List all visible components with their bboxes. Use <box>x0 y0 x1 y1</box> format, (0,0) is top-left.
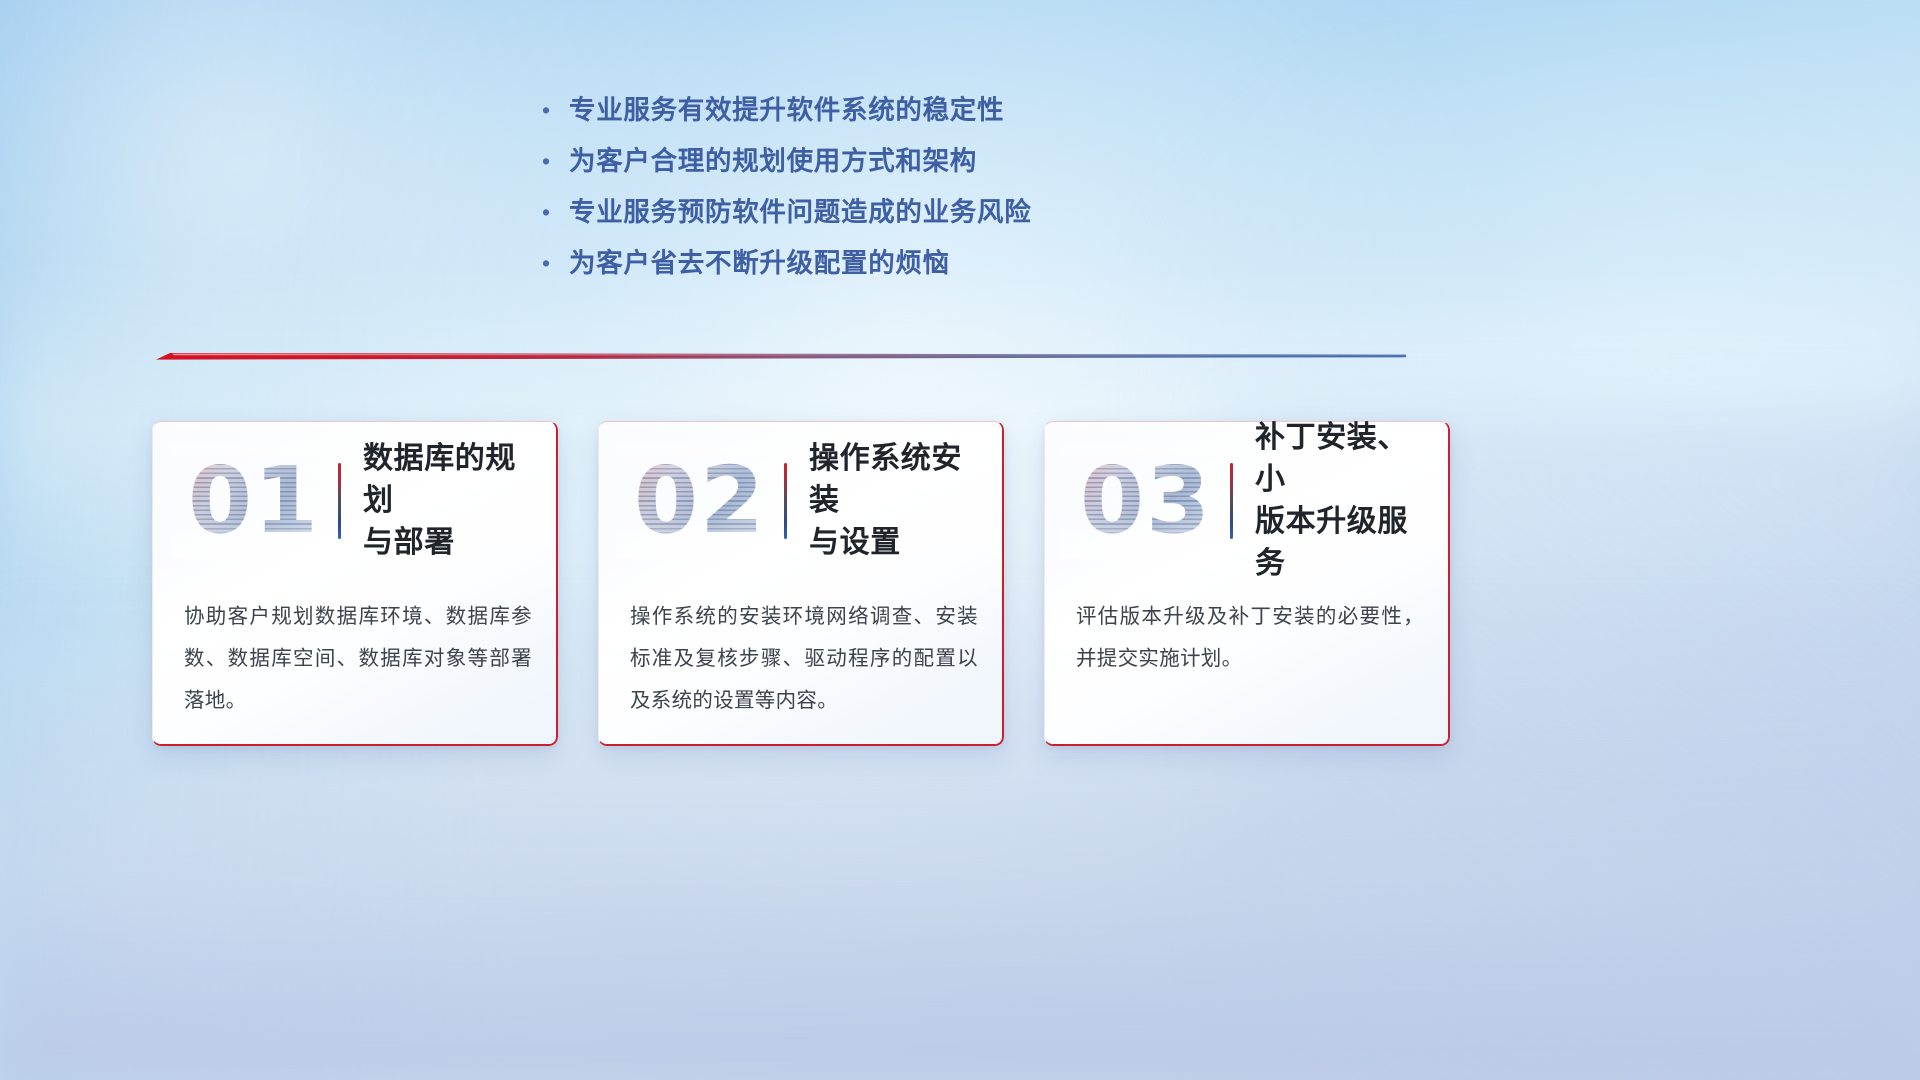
card-description: 操作系统的安装环境网络调查、安装标准及复核步骤、驱动程序的配置以及系统的设置等内… <box>630 596 978 722</box>
bullet-dot-icon: • <box>535 90 569 130</box>
bullet-dot-icon: • <box>535 243 569 283</box>
card-title-line-2: 版本升级服务 <box>1255 501 1436 585</box>
bullet-item-3: • 专业服务预防软件问题造成的业务风险 <box>535 192 1135 243</box>
card-title-line-1: 操作系统安装 <box>809 438 990 522</box>
card-header: 01 数据库的规划 与部署 <box>152 421 558 581</box>
bullet-item-4: • 为客户省去不断升级配置的烦恼 <box>535 243 1135 294</box>
card-title: 补丁安装、小 版本升级服务 <box>1255 421 1450 585</box>
card-accent-bar <box>1230 463 1233 539</box>
card-title-line-2: 与部署 <box>363 522 544 564</box>
bullet-item-label: 为客户合理的规划使用方式和架构 <box>569 141 977 181</box>
bullet-dot-icon: • <box>535 192 569 232</box>
card-title-line-1: 补丁安装、小 <box>1255 421 1436 501</box>
bullet-item-label: 专业服务有效提升软件系统的稳定性 <box>569 90 1004 130</box>
card-title-line-2: 与设置 <box>809 522 990 564</box>
card-description: 协助客户规划数据库环境、数据库参数、数据库空间、数据库对象等部署落地。 <box>184 596 532 722</box>
benefits-bullet-list: • 专业服务有效提升软件系统的稳定性 • 为客户合理的规划使用方式和架构 • 专… <box>535 90 1135 294</box>
bullet-item-2: • 为客户合理的规划使用方式和架构 <box>535 141 1135 192</box>
card-title: 操作系统安装 与设置 <box>809 438 1004 564</box>
bullet-dot-icon: • <box>535 141 569 181</box>
card-number-badge: 03 <box>1062 445 1230 557</box>
card-title-line-1: 数据库的规划 <box>363 438 544 522</box>
card-number-text: 02 <box>634 445 766 557</box>
card-number-text: 01 <box>188 445 320 557</box>
service-card[interactable]: 03 补丁安装、小 版本升级服务 评估版本升级及补丁安装的必要性，并提交实施计划… <box>1044 421 1450 746</box>
section-divider <box>156 348 1406 364</box>
service-card-list: 01 数据库的规划 与部署 协助客户规划数据库环境、数据库参数、数据库空间、数据… <box>152 421 1452 746</box>
card-number-text: 03 <box>1080 445 1212 557</box>
card-number-badge: 02 <box>616 445 784 557</box>
divider-wedge-icon <box>156 348 1406 364</box>
card-number-badge: 01 <box>170 445 338 557</box>
card-description: 评估版本升级及补丁安装的必要性，并提交实施计划。 <box>1076 596 1424 680</box>
bullet-item-label: 为客户省去不断升级配置的烦恼 <box>569 243 950 283</box>
card-header: 02 操作系统安装 与设置 <box>598 421 1004 581</box>
bullet-item-label: 专业服务预防软件问题造成的业务风险 <box>569 192 1031 232</box>
card-title: 数据库的规划 与部署 <box>363 438 558 564</box>
card-accent-bar <box>784 463 787 539</box>
service-card[interactable]: 01 数据库的规划 与部署 协助客户规划数据库环境、数据库参数、数据库空间、数据… <box>152 421 558 746</box>
service-card[interactable]: 02 操作系统安装 与设置 操作系统的安装环境网络调查、安装标准及复核步骤、驱动… <box>598 421 1004 746</box>
card-accent-bar <box>338 463 341 539</box>
card-header: 03 补丁安装、小 版本升级服务 <box>1044 421 1450 581</box>
bullet-item-1: • 专业服务有效提升软件系统的稳定性 <box>535 90 1135 141</box>
